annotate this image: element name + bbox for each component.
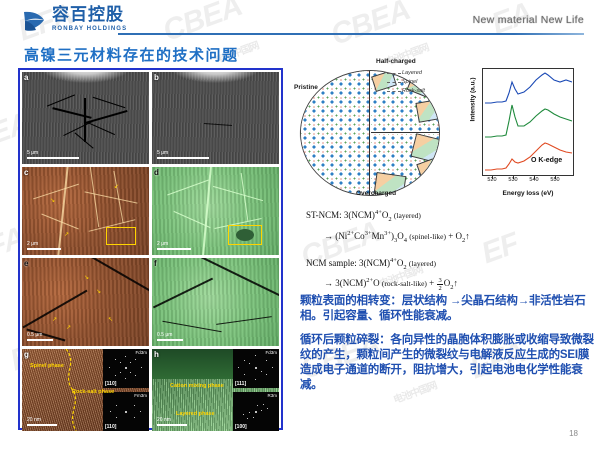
slide-canvas: 容百控股 RONBAY HOLDINGS New material New Li… <box>0 0 600 450</box>
highlight-box-c <box>106 227 136 245</box>
panel-letter-g: g <box>24 350 29 359</box>
fft-inset-g-bottom: Fm3m [110] <box>103 392 149 431</box>
schematic-label-overcharged: Overcharged <box>356 190 396 197</box>
panel-letter-h: h <box>154 350 159 359</box>
phase-label-layered: Layered phase <box>176 411 215 417</box>
chart-xtick-540: 540 <box>529 177 538 183</box>
scale-label-b: 5 μm <box>157 150 168 156</box>
slide-header: 容百控股 RONBAY HOLDINGS New material New Li… <box>0 0 600 40</box>
schematic-label-half-charged: Half-charged <box>376 58 416 65</box>
page-title: 高镍三元材料存在的技术问题 <box>24 44 239 65</box>
phase-label-rock-salt: Rock-salt phase <box>72 389 114 395</box>
panel-letter-e: e <box>24 259 28 268</box>
scale-label-f: 0.5 μm <box>157 332 172 338</box>
chart-xtick-530: 530 <box>508 177 517 183</box>
conclusion-paragraph-1: 颗粒表面的相转变：层状结构 →尖晶石结构→非活性岩石相。引起容量、循环性能衰减。 <box>300 294 596 324</box>
phase-label-cation-mixing: Cation mixing phase <box>170 383 224 389</box>
figure-panel-a: a 5 μm <box>22 72 149 164</box>
scale-label-h: 20 nm <box>157 417 171 423</box>
scale-label-a: 5 μm <box>27 150 38 156</box>
figure-panel-d: d 2 μm <box>152 167 279 255</box>
logo-english-name: RONBAY HOLDINGS <box>52 25 127 33</box>
figure-panel-e: e ↘ ↘ ↗ ↗ ↖ 0.5 μm <box>22 258 149 346</box>
scale-label-g: 20 nm <box>27 417 41 423</box>
equation-st-ncm-product: → (Ni2+Co3+Mn3+)3O4 (spinel-like) + O2↑ <box>306 227 592 248</box>
chart-y-axis-label: Intensity (a.u.) <box>470 65 477 135</box>
page-number: 18 <box>569 429 578 438</box>
legend-layered: Layered <box>402 70 422 76</box>
equation-ncm-sample: NCM sample: 3(NCM)4+O2 (layered) <box>306 254 592 275</box>
series-half-charged <box>485 105 572 137</box>
scale-label-c: 2 μm <box>27 241 38 247</box>
panel-letter-a: a <box>24 73 28 82</box>
equation-st-ncm: ST-NCM: 3(NCM)4+O2 (layered) <box>306 206 592 227</box>
panel-letter-c: c <box>24 168 28 177</box>
scale-label-e: 0.5 μm <box>27 332 42 338</box>
header-tagline: New material New Life <box>473 14 584 26</box>
o-k-edge-spectrum-chart: Intensity (a.u.) O K-edge 520 530 540 55… <box>460 64 584 200</box>
fft-group-g-top: Fd3m <box>135 350 147 355</box>
chart-xtick-550: 550 <box>550 177 559 183</box>
chart-x-axis-label: Energy loss (eV) <box>482 190 574 197</box>
panel-letter-d: d <box>154 168 159 177</box>
figure-panel-g: g Spinel phase Rock-salt phase Fd3m [110… <box>22 349 149 431</box>
phase-label-spinel: Spinel phase <box>30 363 64 369</box>
company-logo: 容百控股 RONBAY HOLDINGS <box>22 6 127 34</box>
reaction-equations: ST-NCM: 3(NCM)4+O2 (layered) → (Ni2+Co3+… <box>306 206 592 295</box>
fft-group-h-bottom: R3m <box>267 393 277 398</box>
figure-panel-f: f 0.5 μm <box>152 258 279 346</box>
ronbay-wave-logo-icon <box>22 8 48 34</box>
microscopy-figure-panel: a 5 μm b 5 μm c <box>18 68 283 430</box>
schematic-label-pristine: Pristine <box>294 84 318 91</box>
highlight-box-d <box>228 225 262 245</box>
chart-xtick-520: 520 <box>487 177 496 183</box>
panel-letter-b: b <box>154 73 159 82</box>
fft-group-g-bottom: Fm3m <box>134 393 147 398</box>
header-divider-rule <box>118 33 584 35</box>
legend-spinel: Spinel <box>402 79 417 85</box>
logo-chinese-name: 容百控股 <box>52 6 127 24</box>
fft-inset-h-bottom: R3m [100] <box>233 392 279 431</box>
figure-panel-c: c ↙ ↘ ↗ 2 μm <box>22 167 149 255</box>
figure-panel-h: h Cation mixing phase Layered phase Fd3m… <box>152 349 279 431</box>
quadrant-overcharged <box>371 134 440 196</box>
fft-zone-h-top: [111] <box>235 381 246 387</box>
degradation-schematic: Pristine Half-charged Overcharged Layere… <box>292 58 460 200</box>
legend-rock-salt: Rock-salt <box>402 88 425 94</box>
scale-label-d: 2 μm <box>157 241 168 247</box>
chart-annotation-edge: O K-edge <box>531 157 562 164</box>
conclusion-text-block: 颗粒表面的相转变：层状结构 →尖晶石结构→非活性岩石相。引起容量、循环性能衰减。… <box>300 294 596 393</box>
equation-ncm-sample-product: → 3(NCM)2+O (rock-salt-like) + 32O2↑ <box>306 274 592 295</box>
fft-inset-g-top: Fd3m [110] <box>103 349 149 388</box>
fft-group-h-top: Fd3m <box>265 350 277 355</box>
figure-panel-b: b 5 μm <box>152 72 279 164</box>
panel-letter-f: f <box>154 259 157 268</box>
conclusion-paragraph-2: 循环后颗粒碎裂：各向异性的晶胞体积膨胀或收缩导致微裂纹的产生，颗粒间产生的微裂纹… <box>300 333 596 393</box>
fft-inset-h-top: Fd3m [111] <box>233 349 279 388</box>
fft-zone-g-top: [110] <box>105 381 116 387</box>
fft-zone-h-bottom: [100] <box>235 424 247 430</box>
series-overcharged <box>485 73 572 103</box>
fft-zone-g-bottom: [110] <box>105 424 116 430</box>
chart-plot-area: O K-edge <box>482 68 574 176</box>
